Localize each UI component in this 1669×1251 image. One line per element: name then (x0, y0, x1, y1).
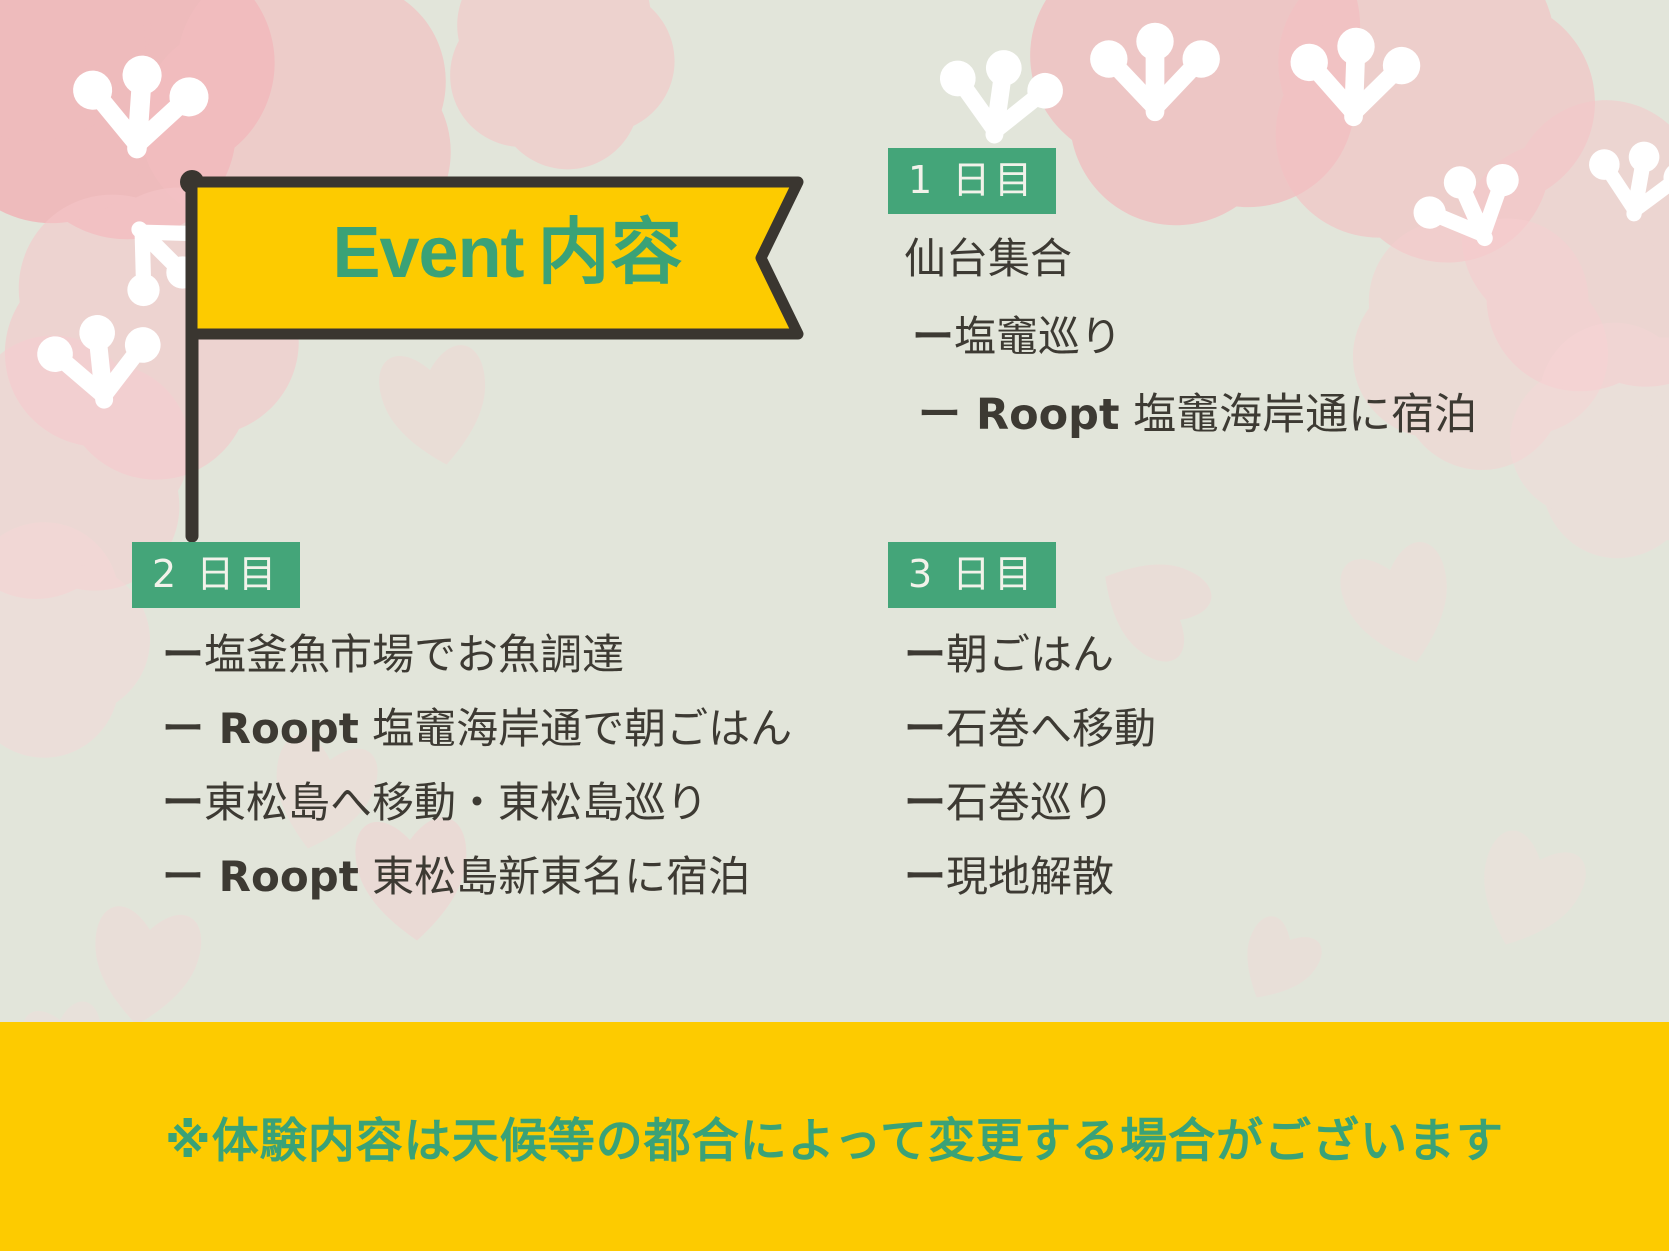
item-text: 石巻へ移動 (946, 704, 1156, 753)
flag-title: Event内容 (238, 216, 778, 289)
day-2-badge: 2 日目 (132, 542, 300, 608)
item-brand: Roopt (976, 390, 1120, 440)
day-3-item-list: ー朝ごはん ー石巻へ移動 ー石巻巡り ー現地解散 (888, 634, 1368, 898)
item-dash: ー (912, 312, 954, 361)
item-brand: Roopt (219, 852, 359, 901)
item-dash: ー (904, 704, 946, 753)
day-3-badge: 3 日目 (888, 542, 1056, 608)
list-item: ー Roopt 塩竈海岸通で朝ごはん (132, 708, 892, 750)
item-dash: ー (904, 852, 946, 901)
item-text: 塩竈海岸通で朝ごはん (359, 704, 792, 753)
list-item: ー Roopt 塩竈海岸通に宿泊 (888, 394, 1608, 437)
list-item: ー朝ごはん (888, 634, 1368, 676)
item-text: 朝ごはん (946, 630, 1114, 679)
day-1-badge: 1 日目 (888, 148, 1056, 214)
flag-title-jp: 内容 (538, 210, 684, 294)
item-dash: ー (162, 704, 219, 753)
list-item: ー Roopt 東松島新東名に宿泊 (132, 856, 892, 898)
list-item: 仙台集合 (888, 238, 1608, 280)
item-text: 石巻巡り (946, 778, 1114, 827)
item-brand: Roopt (219, 704, 359, 753)
item-dash: ー (162, 778, 204, 827)
list-item: ー石巻へ移動 (888, 708, 1368, 750)
event-flag-banner: Event内容 (178, 168, 818, 538)
day-2-item-list: ー塩釜魚市場でお魚調達 ー Roopt 塩竈海岸通で朝ごはん ー東松島へ移動・東… (132, 634, 892, 898)
item-text: 東松島へ移動・東松島巡り (204, 778, 708, 827)
item-text: 塩釜魚市場でお魚調達 (204, 630, 624, 679)
footer-disclaimer-bar: ※体験内容は天候等の都合によって変更する場合がございます (0, 1022, 1669, 1251)
day-1-item-list: 仙台集合 ー塩竈巡り ー Roopt 塩竈海岸通に宿泊 (888, 238, 1608, 437)
list-item: ー石巻巡り (888, 782, 1368, 824)
list-item: ー東松島へ移動・東松島巡り (132, 782, 892, 824)
day-1-block: 1 日目 仙台集合 ー塩竈巡り ー Roopt 塩竈海岸通に宿泊 (888, 148, 1608, 473)
item-dash: ー (904, 778, 946, 827)
footer-note-text: ※体験内容は天候等の都合によって変更する場合がございます (165, 1102, 1504, 1171)
item-dash: ー (162, 852, 219, 901)
item-dash: ー (162, 630, 204, 679)
event-poster: Event内容 1 日目 仙台集合 ー塩竈巡り ー Roopt 塩竈海岸通に宿泊… (0, 0, 1669, 1251)
day-2-block: 2 日目 ー塩釜魚市場でお魚調達 ー Roopt 塩竈海岸通で朝ごはん ー東松島… (132, 542, 892, 930)
item-dash: ー (904, 630, 946, 679)
list-item: ー現地解散 (888, 856, 1368, 898)
item-text: 東松島新東名に宿泊 (359, 852, 750, 901)
item-dash: ー (918, 390, 976, 440)
flag-title-en: Event (332, 213, 523, 293)
item-text: 塩竈巡り (954, 312, 1122, 361)
day-3-block: 3 日目 ー朝ごはん ー石巻へ移動 ー石巻巡り ー現地解散 (888, 542, 1368, 930)
list-item: ー塩釜魚市場でお魚調達 (132, 634, 892, 676)
item-text: 仙台集合 (904, 234, 1072, 283)
list-item: ー塩竈巡り (888, 316, 1608, 358)
item-text: 現地解散 (946, 852, 1114, 901)
item-text: 塩竈海岸通に宿泊 (1120, 390, 1478, 440)
